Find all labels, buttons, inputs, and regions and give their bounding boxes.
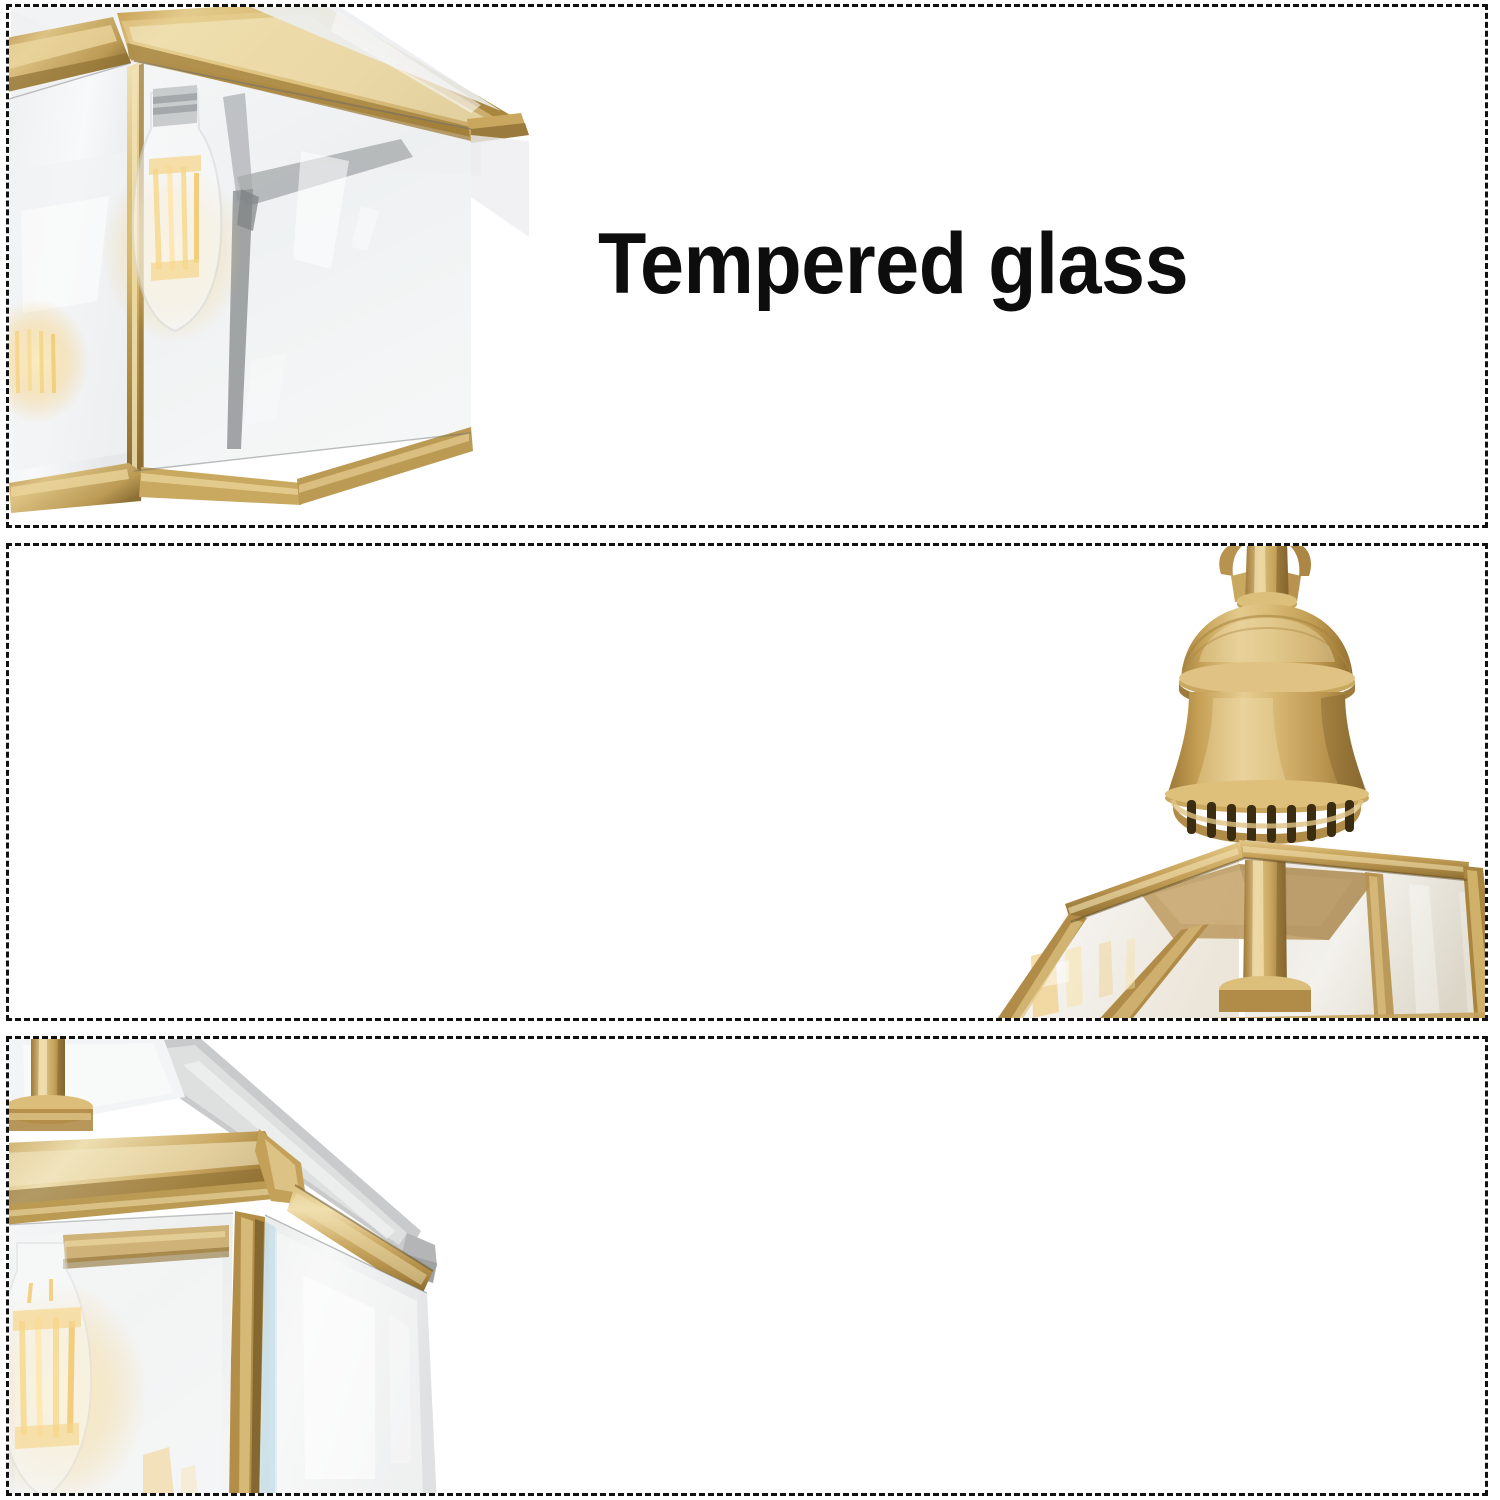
lantern-top-angle-image [6, 4, 531, 528]
lantern-finial-cap-image [769, 543, 1488, 1021]
panel-caption-tempered-glass: Tempered glass [598, 221, 1188, 309]
feature-panel-copper-body: The whole lamp body is made of copper [6, 1036, 1488, 1496]
feature-panel-surface-treatment: Surface treatment brushed [6, 543, 1488, 1021]
lantern-corner-detail-image [6, 1036, 503, 1496]
infographic-sheet: Tempered glass [0, 0, 1500, 1500]
feature-panel-tempered-glass: Tempered glass [6, 4, 1488, 528]
